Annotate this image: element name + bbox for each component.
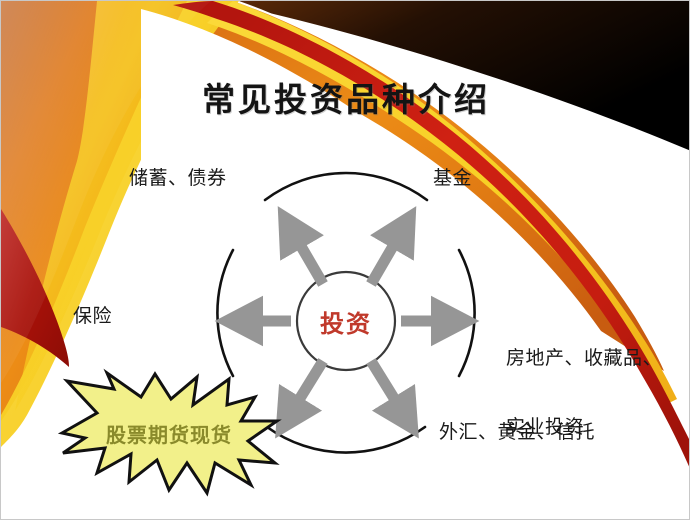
label-insurance: 保险 [73,305,112,328]
label-funds: 基金 [433,167,472,190]
arrow-down-left [289,361,323,416]
label-real-estate-line1: 房地产、收藏品、 [506,347,662,370]
presentation-slide: 常见投资品种介绍 [0,0,690,520]
arrow-down-right [371,361,405,416]
label-forex-gold-trust: 外汇、黄金、信托 [439,421,595,444]
label-savings-bonds: 储蓄、债券 [129,167,227,190]
hub-label: 投资 [297,304,395,339]
burst-label: 股票期货现货 [63,419,275,448]
arrow-up-right [371,229,403,284]
label-real-estate-collectibles: 房地产、收藏品、 实业投资 [506,301,662,485]
arrow-up-left [291,229,323,284]
